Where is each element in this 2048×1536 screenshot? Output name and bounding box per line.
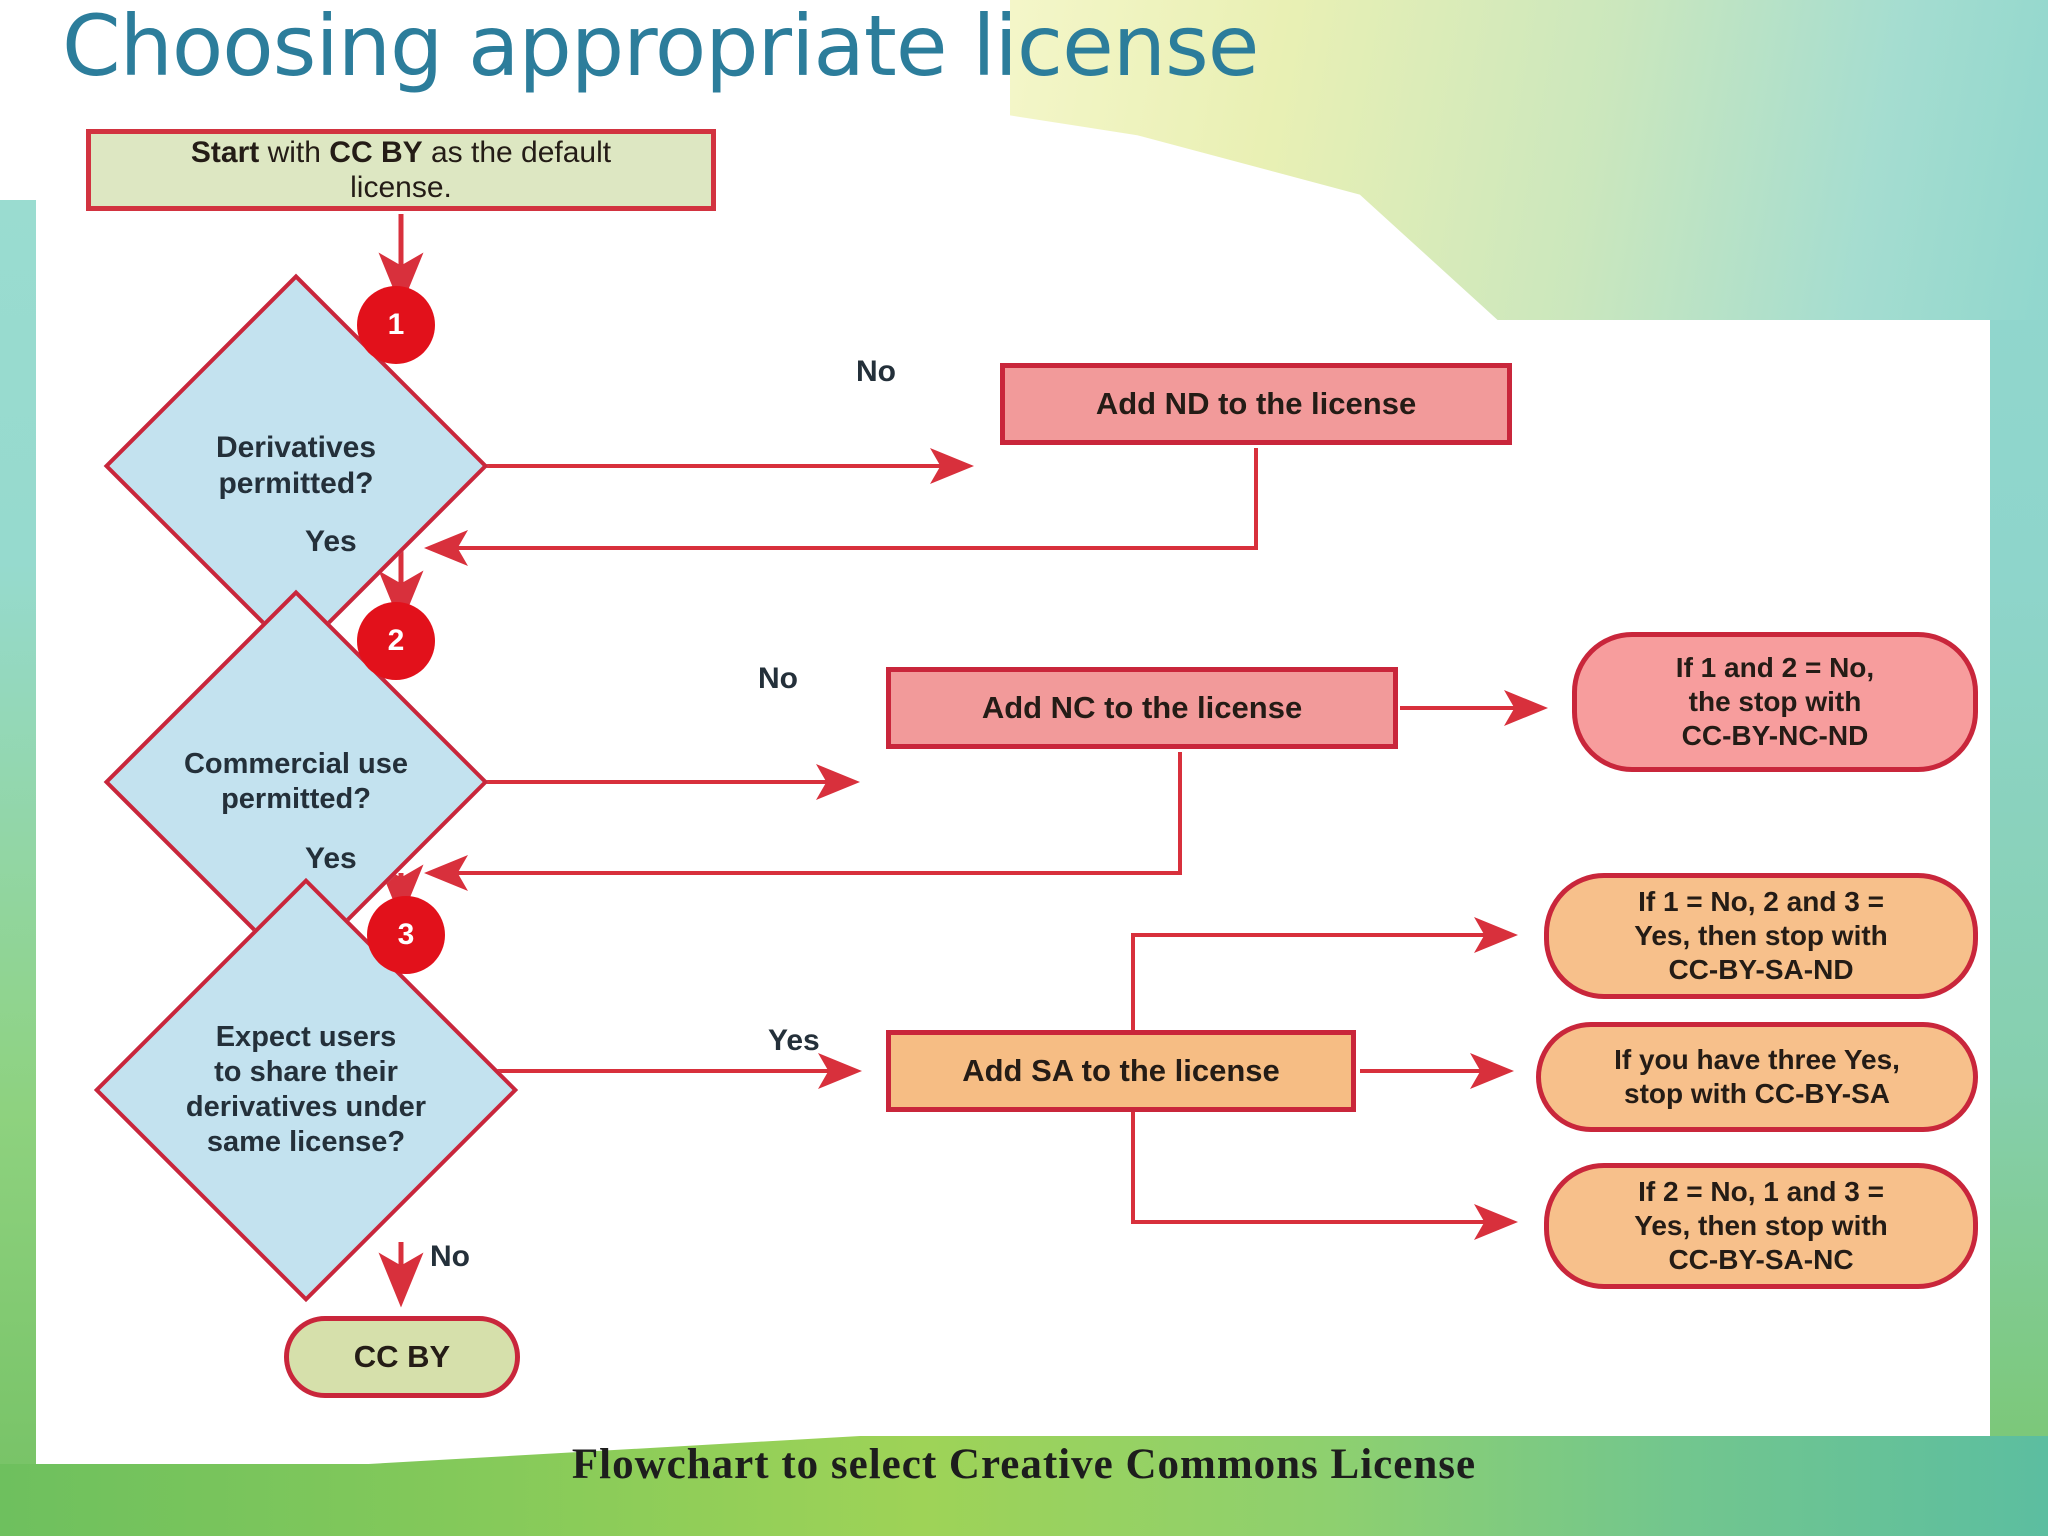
figure-caption: Flowchart to select Creative Commons Lic…: [0, 1440, 2048, 1489]
node-add-sa[interactable]: Add SA to the license: [886, 1030, 1356, 1112]
node-decision-commercial[interactable]: Commercial use permitted?: [160, 646, 432, 918]
badge-step-3: 3: [367, 896, 445, 974]
edge-nc-return: [430, 752, 1180, 873]
badge-step-1: 1: [357, 286, 435, 364]
node-end-cc-by[interactable]: CC BY: [284, 1316, 520, 1398]
decision-1-line2: permitted?: [216, 466, 376, 502]
node-decision-derivatives[interactable]: Derivatives permitted?: [160, 330, 432, 602]
node-result-cc-by-sa-nd[interactable]: If 1 = No, 2 and 3 = Yes, then stop with…: [1544, 873, 1978, 999]
node-start-label-bold2: CC BY: [329, 136, 422, 169]
slide-canvas: Choosing appropriate license: [0, 0, 2048, 1536]
result-2-line3: CC-BY-SA-ND: [1634, 953, 1888, 987]
result-4-line2: Yes, then stop with: [1634, 1209, 1888, 1243]
page-title: Choosing appropriate license: [62, 2, 1258, 90]
node-add-nd[interactable]: Add ND to the license: [1000, 363, 1512, 445]
node-start-label: Start: [191, 136, 259, 169]
decision-3-label: Expect users to share their derivatives …: [156, 940, 456, 1240]
edge-label-d1-no: No: [856, 355, 896, 389]
decision-3-line2: to share their: [186, 1055, 426, 1090]
result-4-line3: CC-BY-SA-NC: [1634, 1243, 1888, 1277]
badge-step-2: 2: [357, 602, 435, 680]
decision-3-line4: same license?: [186, 1125, 426, 1160]
decision-1-line1: Derivatives: [216, 430, 376, 466]
result-1-line2: the stop with: [1676, 685, 1874, 719]
edge-nd-return: [430, 448, 1256, 548]
decision-3-line3: derivatives under: [186, 1090, 426, 1125]
result-4-line1: If 2 = No, 1 and 3 =: [1634, 1175, 1888, 1209]
edge-label-d2-yes: Yes: [305, 842, 357, 876]
node-start-label-line2: license.: [191, 170, 611, 205]
edge-label-d2-no: No: [758, 662, 798, 696]
node-result-cc-by-sa-nc[interactable]: If 2 = No, 1 and 3 = Yes, then stop with…: [1544, 1163, 1978, 1289]
result-2-line1: If 1 = No, 2 and 3 =: [1634, 885, 1888, 919]
result-1-line3: CC-BY-NC-ND: [1676, 719, 1874, 753]
edge-sa-to-res4: [1133, 1112, 1512, 1222]
node-decision-sharealike[interactable]: Expect users to share their derivatives …: [156, 940, 456, 1240]
node-start[interactable]: Start with CC BY as the default license.: [86, 129, 716, 211]
node-result-cc-by-sa[interactable]: If you have three Yes, stop with CC-BY-S…: [1536, 1022, 1978, 1132]
edge-sa-to-res2: [1133, 935, 1512, 1030]
node-result-cc-by-nc-nd[interactable]: If 1 and 2 = No, the stop with CC-BY-NC-…: [1572, 632, 1978, 772]
edge-label-d1-yes: Yes: [305, 525, 357, 559]
result-1-line1: If 1 and 2 = No,: [1676, 651, 1874, 685]
result-2-line2: Yes, then stop with: [1634, 919, 1888, 953]
edge-label-d3-no: No: [430, 1240, 470, 1274]
result-3-line1: If you have three Yes,: [1614, 1043, 1900, 1077]
decision-3-line1: Expect users: [186, 1020, 426, 1055]
decision-2-line1: Commercial use: [184, 747, 408, 782]
result-3-line2: stop with CC-BY-SA: [1614, 1077, 1900, 1111]
decision-2-label: Commercial use permitted?: [160, 646, 432, 918]
node-start-label-rest2: as the default: [423, 136, 611, 169]
node-add-nc[interactable]: Add NC to the license: [886, 667, 1398, 749]
decision-1-label: Derivatives permitted?: [160, 330, 432, 602]
edge-label-d3-yes: Yes: [768, 1024, 820, 1058]
decision-2-line2: permitted?: [184, 782, 408, 817]
node-start-label-rest: with: [259, 136, 329, 169]
